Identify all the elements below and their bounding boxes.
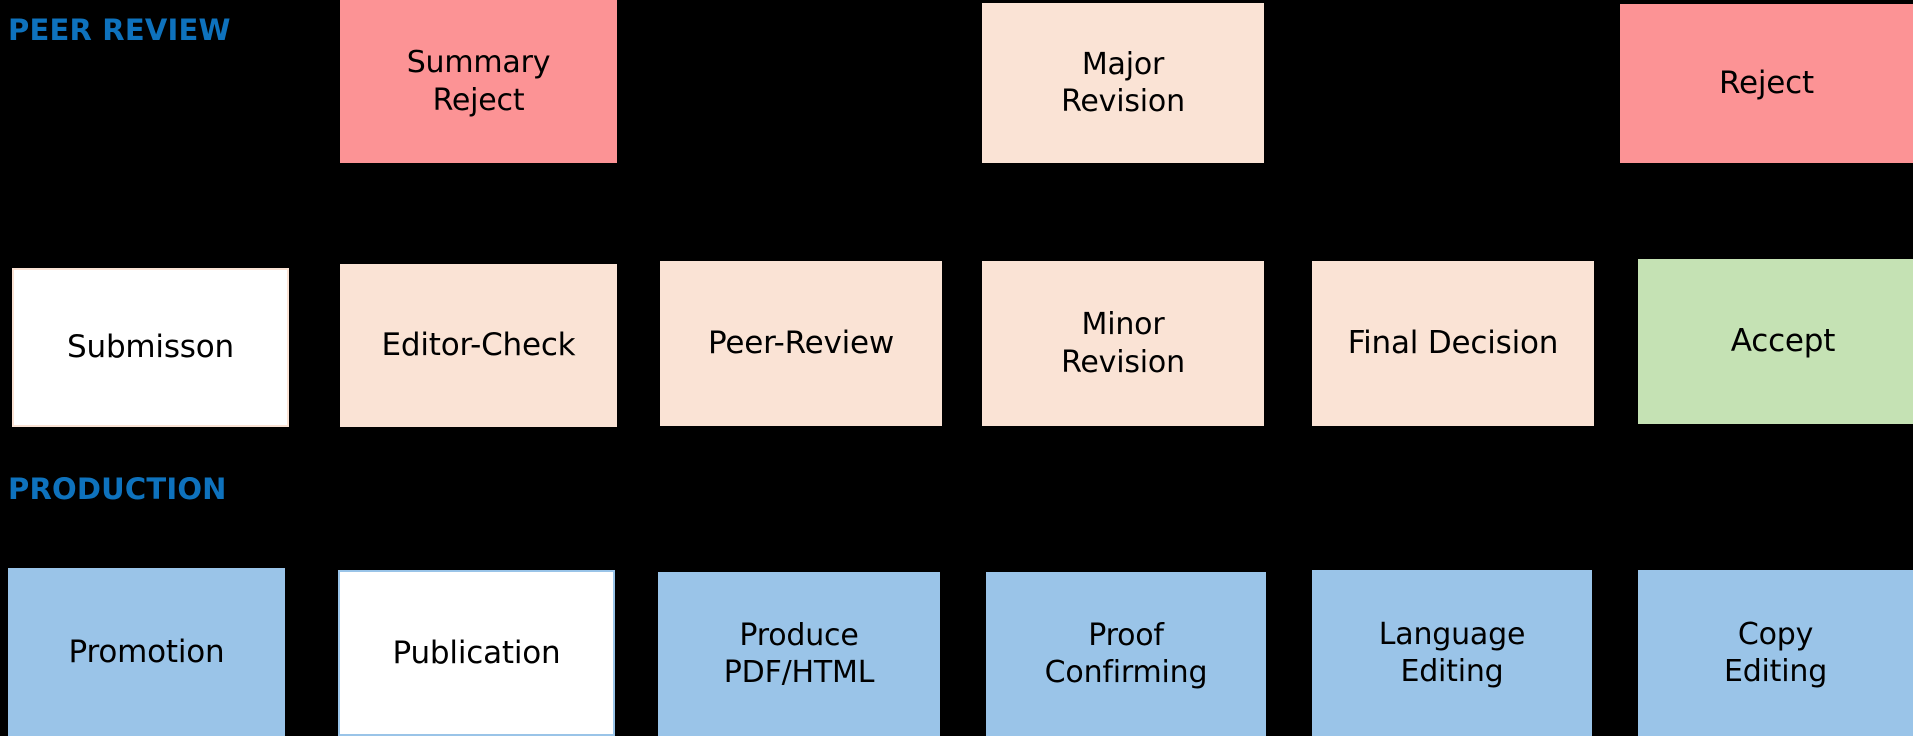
node-promotion[interactable]: Promotion: [8, 568, 285, 736]
production-row: PromotionPublicationProduce PDF/HTMLProo…: [0, 0, 1913, 736]
node-proof-confirming[interactable]: Proof Confirming: [986, 572, 1266, 736]
node-produce-pdf-html[interactable]: Produce PDF/HTML: [658, 572, 940, 736]
workflow-diagram-canvas: PEER REVIEWPRODUCTIONSummary RejectMajor…: [0, 0, 1913, 736]
node-copy-editing[interactable]: Copy Editing: [1638, 570, 1913, 736]
node-publication[interactable]: Publication: [338, 570, 615, 736]
node-language-editing[interactable]: Language Editing: [1312, 570, 1592, 736]
